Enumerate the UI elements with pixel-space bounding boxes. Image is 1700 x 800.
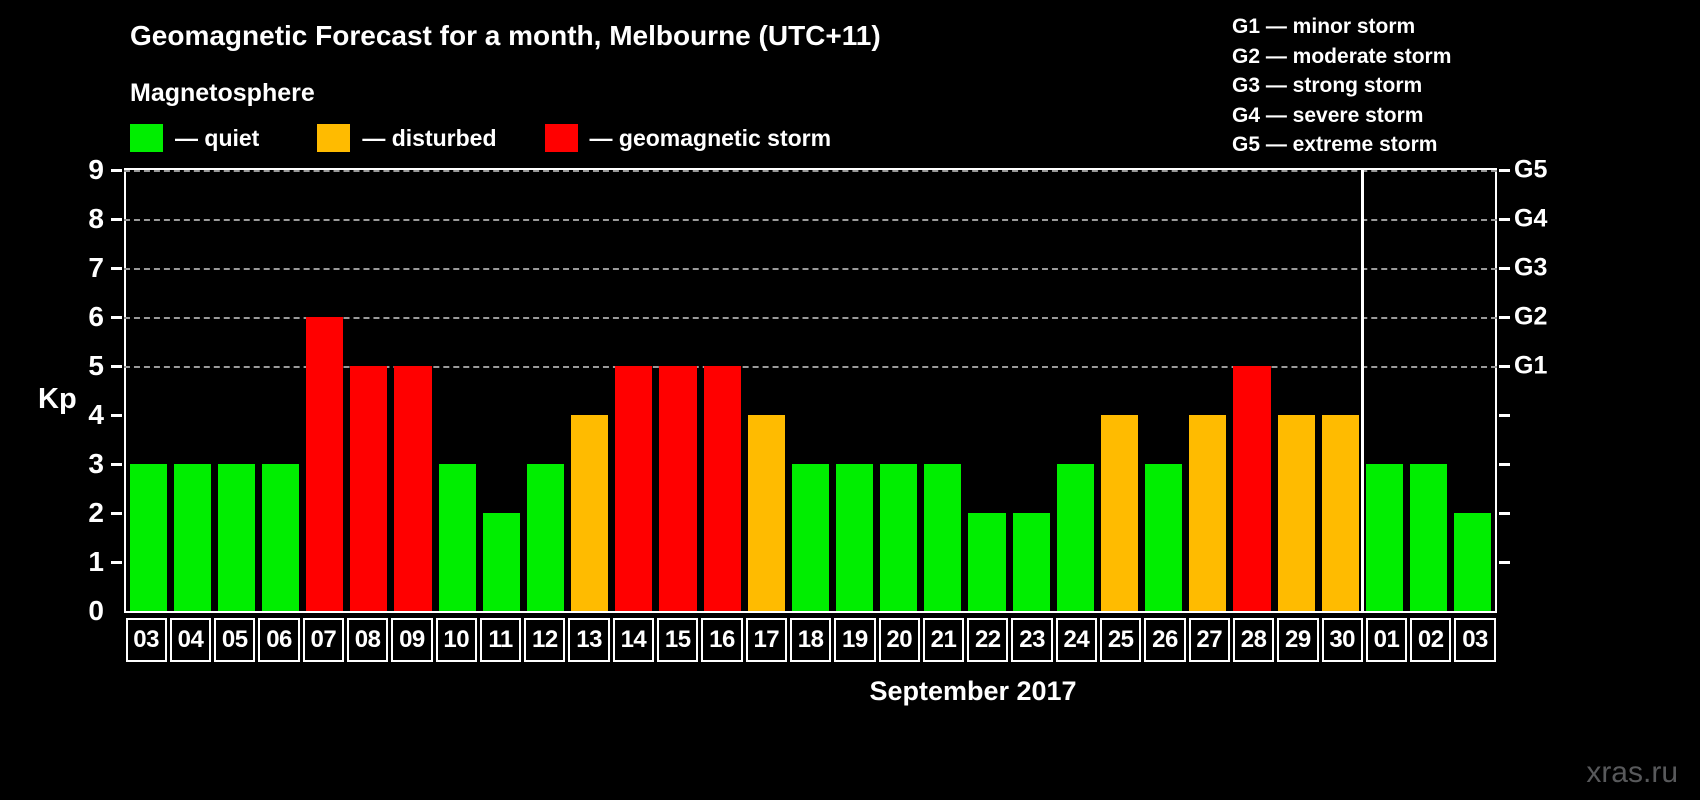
y-tick-right (1499, 316, 1510, 319)
legend-item-quiet: — quiet (130, 124, 259, 152)
bar[interactable] (483, 513, 520, 611)
storm-level-label: G4 (1514, 205, 1547, 234)
day-label-box[interactable]: 25 (1100, 618, 1141, 662)
day-label: 15 (665, 626, 691, 654)
bar-column[interactable] (568, 170, 612, 611)
y-axis-tick-label: 9 (68, 154, 104, 186)
day-label-box[interactable]: 27 (1189, 618, 1230, 662)
day-label-box[interactable]: 10 (436, 618, 477, 662)
bar-column[interactable] (479, 170, 523, 611)
y-tick-right (1499, 414, 1510, 417)
y-tick-right (1499, 463, 1510, 466)
bar[interactable] (659, 366, 696, 611)
bar-column[interactable] (1009, 170, 1053, 611)
day-label-box[interactable]: 05 (214, 618, 255, 662)
day-label: 08 (355, 626, 381, 654)
day-label-box[interactable]: 03 (1454, 618, 1495, 662)
y-tick (111, 169, 122, 172)
bar-column[interactable] (1318, 170, 1362, 611)
storm-level-label: G1 (1514, 352, 1547, 381)
bar-column[interactable] (214, 170, 258, 611)
bar[interactable] (350, 366, 387, 611)
bar[interactable] (1189, 415, 1226, 611)
bar-column[interactable] (1142, 170, 1186, 611)
legend-label-disturbed: — disturbed (362, 125, 496, 152)
legend-swatch-disturbed-icon (317, 124, 350, 152)
bar[interactable] (836, 464, 873, 611)
day-label-box[interactable]: 01 (1366, 618, 1407, 662)
day-label-box[interactable]: 18 (790, 618, 831, 662)
day-label-box[interactable]: 23 (1011, 618, 1052, 662)
y-tick (111, 463, 122, 466)
y-tick (111, 561, 122, 564)
bar[interactable] (704, 366, 741, 611)
day-label-box[interactable]: 08 (347, 618, 388, 662)
legend-label-storm: — geomagnetic storm (590, 125, 832, 152)
y-tick-right (1499, 365, 1510, 368)
bar[interactable] (1233, 366, 1270, 611)
y-tick-right (1499, 267, 1510, 270)
bar[interactable] (1013, 513, 1050, 611)
y-tick (111, 365, 122, 368)
day-label-box[interactable]: 26 (1144, 618, 1185, 662)
bar[interactable] (218, 464, 255, 611)
bar[interactable] (1057, 464, 1094, 611)
day-label: 25 (1108, 626, 1134, 654)
legend-item-storm: — geomagnetic storm (545, 124, 832, 152)
day-label-box[interactable]: 02 (1410, 618, 1451, 662)
day-label: 02 (1418, 626, 1444, 654)
storm-level-label: G3 (1514, 254, 1547, 283)
bar[interactable] (968, 513, 1005, 611)
bar[interactable] (394, 366, 431, 611)
y-axis-tick-label: 4 (68, 399, 104, 431)
x-axis-day-labels: 0304050607080910111213141516171819202122… (124, 618, 1497, 662)
y-tick-right (1499, 218, 1510, 221)
bar[interactable] (748, 415, 785, 611)
day-label-box[interactable]: 30 (1322, 618, 1363, 662)
plot-area (124, 168, 1497, 613)
bar[interactable] (880, 464, 917, 611)
bar-column[interactable] (1186, 170, 1230, 611)
y-axis-tick-label: 6 (68, 301, 104, 333)
day-label: 21 (931, 626, 957, 654)
day-label-box[interactable]: 20 (879, 618, 920, 662)
day-label-box[interactable]: 06 (258, 618, 299, 662)
bar-column[interactable] (126, 170, 170, 611)
bar[interactable] (1278, 415, 1315, 611)
day-label-box[interactable]: 15 (657, 618, 698, 662)
day-label: 07 (310, 626, 336, 654)
storm-level-label: G2 (1514, 303, 1547, 332)
day-label: 18 (798, 626, 824, 654)
forecast-period-separator (1361, 168, 1364, 613)
bar[interactable] (1145, 464, 1182, 611)
color-legend: — quiet — disturbed — geomagnetic storm (130, 124, 831, 152)
geomagnetic-forecast-chart: Geomagnetic Forecast for a month, Melbou… (0, 0, 1700, 800)
bar[interactable] (527, 464, 564, 611)
storm-scale-row: G5 — extreme storm (1232, 130, 1451, 160)
bar-column[interactable] (170, 170, 214, 611)
day-label: 10 (443, 626, 469, 654)
y-tick-right (1499, 512, 1510, 515)
day-label: 06 (266, 626, 292, 654)
bar-column[interactable] (965, 170, 1009, 611)
day-label: 29 (1285, 626, 1311, 654)
y-axis-tick-label: 5 (68, 350, 104, 382)
storm-scale-row: G4 — severe storm (1232, 101, 1451, 131)
bar-column[interactable] (258, 170, 302, 611)
day-label-box[interactable]: 07 (303, 618, 344, 662)
day-label: 03 (1462, 626, 1488, 654)
y-axis-tick-label: 7 (68, 252, 104, 284)
y-axis-tick-label: 8 (68, 203, 104, 235)
magnetosphere-label: Magnetosphere (130, 79, 315, 108)
day-label: 05 (222, 626, 248, 654)
y-axis-tick-label: 2 (68, 497, 104, 529)
storm-scale-row: G3 — strong storm (1232, 71, 1451, 101)
bar-column[interactable] (788, 170, 832, 611)
y-tick-right (1499, 561, 1510, 564)
day-label: 04 (178, 626, 204, 654)
day-label: 13 (576, 626, 602, 654)
y-tick (111, 218, 122, 221)
day-label-box[interactable]: 28 (1233, 618, 1274, 662)
y-tick-right (1499, 169, 1510, 172)
y-tick (111, 316, 122, 319)
day-label-box[interactable]: 19 (834, 618, 875, 662)
day-label-box[interactable]: 09 (391, 618, 432, 662)
x-axis-title-text: September 2017 (869, 676, 1076, 707)
day-label: 22 (975, 626, 1001, 654)
bar[interactable] (792, 464, 829, 611)
bar-column[interactable] (1451, 170, 1495, 611)
day-label-box[interactable]: 21 (923, 618, 964, 662)
bar-series (126, 170, 1495, 611)
day-label: 11 (488, 626, 512, 654)
day-label-box[interactable]: 22 (967, 618, 1008, 662)
page-title: Geomagnetic Forecast for a month, Melbou… (130, 20, 881, 52)
day-label: 12 (532, 626, 558, 654)
bar[interactable] (571, 415, 608, 611)
bar[interactable] (174, 464, 211, 611)
bar-column[interactable] (877, 170, 921, 611)
day-label: 16 (709, 626, 735, 654)
bar-column[interactable] (1053, 170, 1097, 611)
day-label: 03 (133, 626, 159, 654)
bar[interactable] (262, 464, 299, 611)
y-tick (111, 267, 122, 270)
storm-scale-row: G1 — minor storm (1232, 12, 1451, 42)
bar[interactable] (615, 366, 652, 611)
storm-scale-key: G1 — minor storm G2 — moderate storm G3 … (1232, 12, 1451, 160)
legend-item-disturbed: — disturbed (317, 124, 496, 152)
day-label-box[interactable]: 03 (126, 618, 167, 662)
storm-scale-row: G2 — moderate storm (1232, 42, 1451, 72)
bar-column[interactable] (1230, 170, 1274, 611)
day-label: 09 (399, 626, 425, 654)
bar-column[interactable] (656, 170, 700, 611)
day-label-box[interactable]: 17 (746, 618, 787, 662)
bar-column[interactable] (347, 170, 391, 611)
legend-label-quiet: — quiet (175, 125, 259, 152)
watermark: xras.ru (1586, 756, 1678, 790)
bar-column[interactable] (1407, 170, 1451, 611)
bar-column[interactable] (921, 170, 965, 611)
bar[interactable] (306, 317, 343, 611)
day-label: 20 (886, 626, 912, 654)
day-label: 24 (1064, 626, 1090, 654)
day-label: 26 (1152, 626, 1178, 654)
day-label-box[interactable]: 11 (480, 618, 521, 662)
bar[interactable] (130, 464, 167, 611)
bar-column[interactable] (833, 170, 877, 611)
day-label: 19 (842, 626, 868, 654)
day-label-box[interactable]: 04 (170, 618, 211, 662)
day-label-box[interactable]: 16 (701, 618, 742, 662)
bar[interactable] (1366, 464, 1403, 611)
day-label: 28 (1241, 626, 1267, 654)
legend-swatch-quiet-icon (130, 124, 163, 152)
bar-column[interactable] (1362, 170, 1406, 611)
bar[interactable] (439, 464, 476, 611)
y-axis-tick-label: 0 (68, 595, 104, 627)
bar-column[interactable] (1274, 170, 1318, 611)
storm-level-label: G5 (1514, 156, 1547, 185)
bar-column[interactable] (700, 170, 744, 611)
day-label: 30 (1329, 626, 1355, 654)
day-label: 14 (621, 626, 647, 654)
bar-column[interactable] (435, 170, 479, 611)
bar-column[interactable] (523, 170, 567, 611)
y-tick (111, 414, 122, 417)
day-label-box[interactable]: 14 (613, 618, 654, 662)
bar[interactable] (1101, 415, 1138, 611)
y-axis-tick-label: 3 (68, 448, 104, 480)
bar-column[interactable] (1097, 170, 1141, 611)
bar[interactable] (1322, 415, 1359, 611)
bar-column[interactable] (391, 170, 435, 611)
day-label: 17 (753, 626, 779, 654)
bar-column[interactable] (744, 170, 788, 611)
day-label-box[interactable]: 29 (1277, 618, 1318, 662)
bar-column[interactable] (303, 170, 347, 611)
day-label: 27 (1196, 626, 1222, 654)
bar[interactable] (1454, 513, 1491, 611)
y-axis-tick-label: 1 (68, 546, 104, 578)
bar-column[interactable] (612, 170, 656, 611)
day-label: 23 (1019, 626, 1045, 654)
day-label: 01 (1374, 626, 1400, 654)
day-label-box[interactable]: 24 (1056, 618, 1097, 662)
bar[interactable] (924, 464, 961, 611)
bar[interactable] (1410, 464, 1447, 611)
y-tick (111, 512, 122, 515)
day-label-box[interactable]: 12 (524, 618, 565, 662)
day-label-box[interactable]: 13 (568, 618, 609, 662)
legend-swatch-storm-icon (545, 124, 578, 152)
x-axis-title: September 2017 (0, 676, 1700, 707)
